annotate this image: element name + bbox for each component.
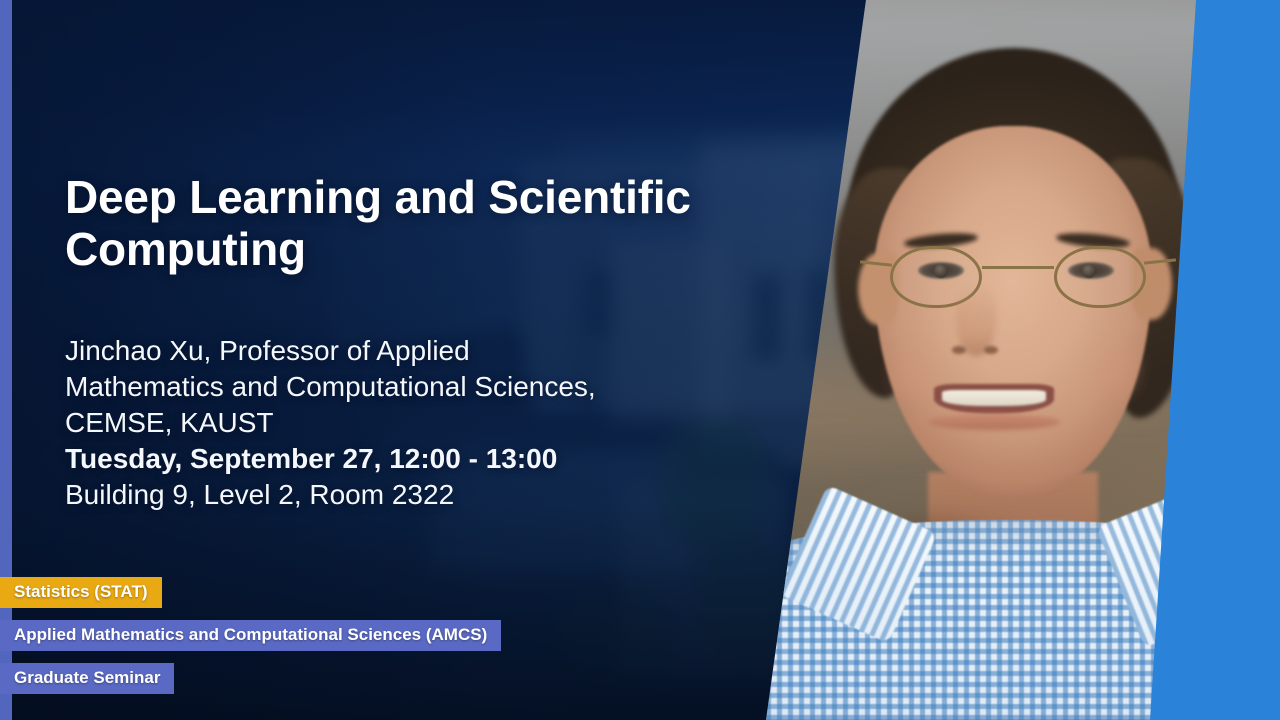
lower-lip — [928, 414, 1060, 430]
speaker-line-3: CEMSE, KAUST — [65, 405, 715, 441]
lens-right — [1054, 246, 1146, 308]
poster-content: Deep Learning and Scientific Computing J… — [65, 0, 765, 720]
cheek-right — [1086, 334, 1148, 406]
glasses-bridge — [982, 266, 1054, 269]
mouth — [934, 384, 1054, 414]
teeth — [942, 390, 1046, 406]
page-title: Deep Learning and Scientific Computing — [65, 172, 705, 275]
event-details: Jinchao Xu, Professor of Applied Mathema… — [65, 333, 715, 513]
speaker-line-1: Jinchao Xu, Professor of Applied — [65, 333, 715, 369]
tag-graduate-seminar[interactable]: Graduate Seminar — [0, 663, 174, 694]
tag-list: Statistics (STAT) Applied Mathematics an… — [0, 577, 760, 706]
title-line-2: Computing — [65, 224, 705, 276]
event-location: Building 9, Level 2, Room 2322 — [65, 477, 715, 513]
nostril-left — [952, 346, 966, 354]
nostril-right — [984, 346, 998, 354]
tag-statistics[interactable]: Statistics (STAT) — [0, 577, 162, 608]
tag-row-3: Graduate Seminar — [0, 663, 760, 706]
tag-row-1: Statistics (STAT) — [0, 577, 760, 620]
event-datetime: Tuesday, September 27, 12:00 - 13:00 — [65, 441, 715, 477]
poster-canvas: Deep Learning and Scientific Computing J… — [0, 0, 1280, 720]
eyeglasses-icon — [890, 246, 1146, 312]
tag-row-2: Applied Mathematics and Computational Sc… — [0, 620, 760, 663]
speaker-line-2: Mathematics and Computational Sciences, — [65, 369, 715, 405]
title-line-1: Deep Learning and Scientific — [65, 172, 705, 224]
tag-amcs[interactable]: Applied Mathematics and Computational Sc… — [0, 620, 501, 651]
